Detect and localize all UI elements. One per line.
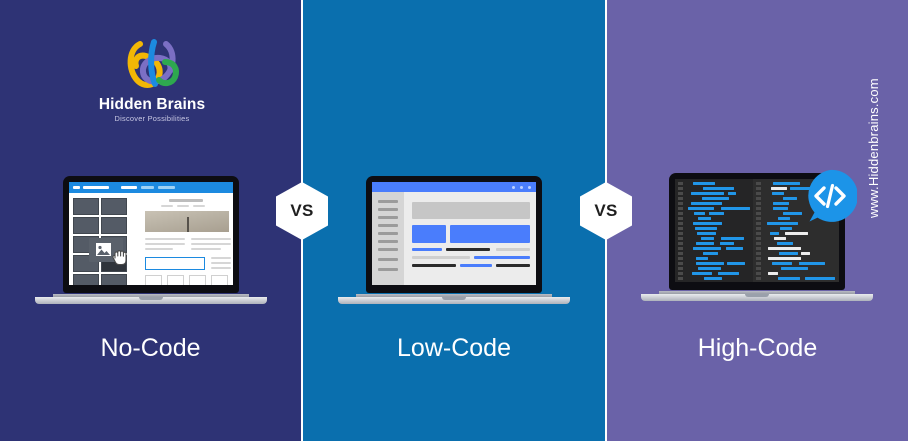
line-number-marker — [678, 237, 683, 240]
sidebar-nav-item[interactable] — [378, 200, 398, 203]
code-line — [698, 267, 721, 270]
editor-gutter-left — [677, 179, 684, 282]
laptop-base — [35, 294, 267, 306]
site-url[interactable]: www.Hiddenbrains.com — [866, 18, 886, 218]
builder-toolbar — [69, 182, 233, 193]
code-line — [768, 257, 801, 260]
code-line — [697, 232, 716, 235]
line-number-marker — [678, 262, 683, 265]
code-line — [785, 232, 808, 235]
canvas-line — [460, 264, 492, 267]
code-line — [805, 277, 835, 280]
code-line — [772, 262, 792, 265]
code-line — [768, 247, 801, 250]
sidebar-nav-item[interactable] — [378, 248, 398, 251]
code-line — [696, 257, 708, 260]
line-number-marker — [678, 187, 683, 190]
canvas-placeholder-box[interactable] — [167, 275, 184, 285]
code-line — [693, 247, 721, 250]
code-line — [694, 212, 705, 215]
line-number-marker — [756, 202, 761, 205]
sidebar-nav-item[interactable] — [378, 208, 398, 211]
code-line — [774, 237, 786, 240]
vs-hexagon: VS — [580, 182, 632, 240]
line-number-marker — [756, 257, 761, 260]
code-line — [696, 262, 724, 265]
component-block-blue[interactable] — [450, 225, 530, 243]
panel-label-nocode: No-Code — [0, 331, 301, 365]
canvas-text-line — [211, 257, 231, 259]
line-number-marker — [678, 217, 683, 220]
canvas-subline — [177, 205, 189, 207]
laptop-base-notch — [745, 294, 769, 297]
line-number-marker — [678, 192, 683, 195]
line-number-marker — [756, 277, 761, 280]
code-line — [698, 217, 711, 220]
code-line — [783, 212, 802, 215]
code-line — [771, 187, 787, 190]
hidden-brains-h-monogram-icon — [120, 36, 186, 94]
brand-tagline: Discover Possibilities — [98, 114, 206, 123]
palette-tile[interactable] — [73, 198, 99, 215]
canvas-line — [474, 256, 530, 259]
line-number-marker — [756, 192, 761, 195]
sidebar-nav-item[interactable] — [378, 258, 398, 261]
toolbar-chip — [158, 186, 175, 189]
code-line — [726, 247, 743, 250]
component-block-blue[interactable] — [412, 225, 446, 243]
line-number-marker — [756, 232, 761, 235]
code-line — [773, 182, 800, 185]
line-number-marker — [756, 197, 761, 200]
code-line — [704, 277, 722, 280]
canvas-line — [496, 264, 530, 267]
line-number-marker — [756, 267, 761, 270]
code-line — [781, 267, 808, 270]
line-number-marker — [678, 252, 683, 255]
line-number-marker — [678, 227, 683, 230]
code-line — [780, 227, 792, 230]
vs-label: VS — [290, 201, 313, 221]
toolbar-chip — [83, 186, 109, 189]
nocode-screen — [69, 182, 233, 285]
line-number-marker — [756, 187, 761, 190]
drag-hand-cursor — [109, 246, 131, 268]
code-line — [696, 242, 714, 245]
sidebar-nav-item[interactable] — [378, 224, 398, 227]
code-line — [778, 217, 790, 220]
infographic-canvas: Hidden Brains Discover Possibilities — [0, 0, 908, 441]
laptop-lid — [366, 176, 542, 293]
code-line — [727, 262, 745, 265]
code-line — [768, 272, 778, 275]
line-number-marker — [678, 182, 683, 185]
code-line — [778, 277, 800, 280]
window-dot[interactable] — [520, 186, 523, 189]
designer-titlebar — [372, 182, 536, 192]
canvas-line — [412, 264, 456, 267]
code-line — [693, 182, 715, 185]
laptop-lowcode — [338, 176, 570, 306]
canvas-text-line — [211, 262, 231, 264]
vs-label: VS — [594, 201, 617, 221]
sidebar-nav-item[interactable] — [378, 216, 398, 219]
code-brackets-icon — [803, 169, 857, 223]
code-line — [772, 192, 784, 195]
code-line — [721, 237, 744, 240]
canvas-line — [412, 248, 442, 251]
toolbar-chip — [73, 186, 80, 189]
code-line — [701, 237, 714, 240]
code-line — [703, 187, 734, 190]
laptop-nocode — [35, 176, 267, 306]
code-line — [770, 232, 779, 235]
line-number-marker — [678, 212, 683, 215]
sidebar-nav-item[interactable] — [378, 232, 398, 235]
palette-tile[interactable] — [73, 274, 99, 285]
builder-canvas — [131, 193, 233, 285]
line-number-marker — [678, 197, 683, 200]
code-line — [779, 252, 798, 255]
canvas-subline — [193, 205, 205, 207]
canvas-text-line — [211, 267, 231, 269]
code-line — [703, 252, 718, 255]
line-number-marker — [756, 237, 761, 240]
line-number-marker — [756, 207, 761, 210]
panel-label-highcode: High-Code — [607, 331, 908, 365]
line-number-marker — [678, 202, 683, 205]
code-line — [693, 222, 722, 225]
canvas-text-line — [191, 248, 221, 250]
code-line — [783, 197, 797, 200]
designer-sidebar — [372, 192, 404, 285]
canvas-text-line — [145, 248, 173, 250]
sidebar-nav-item[interactable] — [378, 240, 398, 243]
line-number-marker — [756, 242, 761, 245]
line-number-marker — [756, 262, 761, 265]
line-number-marker — [678, 277, 683, 280]
line-number-marker — [756, 222, 761, 225]
line-number-marker — [756, 212, 761, 215]
canvas-subline — [161, 205, 173, 207]
sidebar-nav-item[interactable] — [378, 268, 398, 271]
palette-tile[interactable] — [73, 217, 99, 234]
window-dot[interactable] — [528, 186, 531, 189]
lowcode-screen — [372, 182, 536, 285]
code-line — [777, 242, 793, 245]
code-line — [718, 272, 739, 275]
line-number-marker — [678, 222, 683, 225]
canvas-heading — [169, 199, 203, 202]
code-line — [773, 202, 789, 205]
line-number-marker — [756, 247, 761, 250]
canvas-text-line — [191, 238, 231, 240]
canvas-placeholder-box[interactable] — [145, 275, 162, 285]
line-number-marker — [756, 252, 761, 255]
palette-tile[interactable] — [101, 198, 127, 215]
canvas-text-line — [191, 243, 231, 245]
toolbar-chip — [141, 186, 154, 189]
canvas-line — [412, 256, 470, 259]
line-number-marker — [678, 267, 683, 270]
laptop-base — [641, 291, 873, 303]
palette-tile[interactable] — [101, 217, 127, 234]
laptop-base-notch — [442, 297, 466, 300]
line-number-marker — [678, 242, 683, 245]
laptop-base — [338, 294, 570, 306]
line-number-marker — [678, 247, 683, 250]
canvas-placeholder-box[interactable] — [189, 275, 206, 285]
canvas-placeholder-box[interactable] — [211, 275, 228, 285]
line-number-marker — [756, 217, 761, 220]
canvas-line — [496, 248, 530, 251]
palette-tile[interactable] — [101, 274, 127, 285]
code-line — [728, 192, 736, 195]
brand-logo: Hidden Brains Discover Possibilities — [98, 36, 206, 130]
code-line — [801, 252, 810, 255]
panel-label-lowcode: Low-Code — [303, 331, 605, 365]
designer-canvas — [404, 192, 536, 285]
toolbar-chip — [121, 186, 137, 189]
brand-name: Hidden Brains — [98, 96, 206, 114]
code-line — [773, 207, 788, 210]
vs-hexagon: VS — [276, 182, 328, 240]
code-line — [709, 212, 724, 215]
code-line — [767, 222, 798, 225]
code-line — [691, 202, 722, 205]
line-number-marker — [756, 182, 761, 185]
line-number-marker — [756, 227, 761, 230]
line-number-marker — [678, 272, 683, 275]
laptop-base-notch — [139, 297, 163, 300]
code-line — [702, 197, 729, 200]
code-line — [799, 262, 825, 265]
line-number-marker — [756, 272, 761, 275]
line-number-marker — [678, 207, 683, 210]
laptop-lid — [63, 176, 239, 293]
code-line — [692, 272, 712, 275]
canvas-photo — [145, 211, 229, 232]
drop-zone[interactable] — [145, 257, 205, 270]
vs-badge-1: VS — [276, 182, 328, 240]
vs-badge-2: VS — [580, 182, 632, 240]
code-line — [688, 207, 714, 210]
code-line — [691, 192, 724, 195]
canvas-text-line — [145, 238, 185, 240]
line-number-marker — [678, 257, 683, 260]
hero-block[interactable] — [412, 202, 530, 219]
code-line — [721, 207, 750, 210]
window-dot[interactable] — [512, 186, 515, 189]
line-number-marker — [678, 232, 683, 235]
canvas-text-line — [145, 243, 185, 245]
editor-gutter-right — [755, 179, 762, 282]
code-line — [695, 227, 717, 230]
code-line — [720, 242, 734, 245]
canvas-line — [446, 248, 490, 251]
